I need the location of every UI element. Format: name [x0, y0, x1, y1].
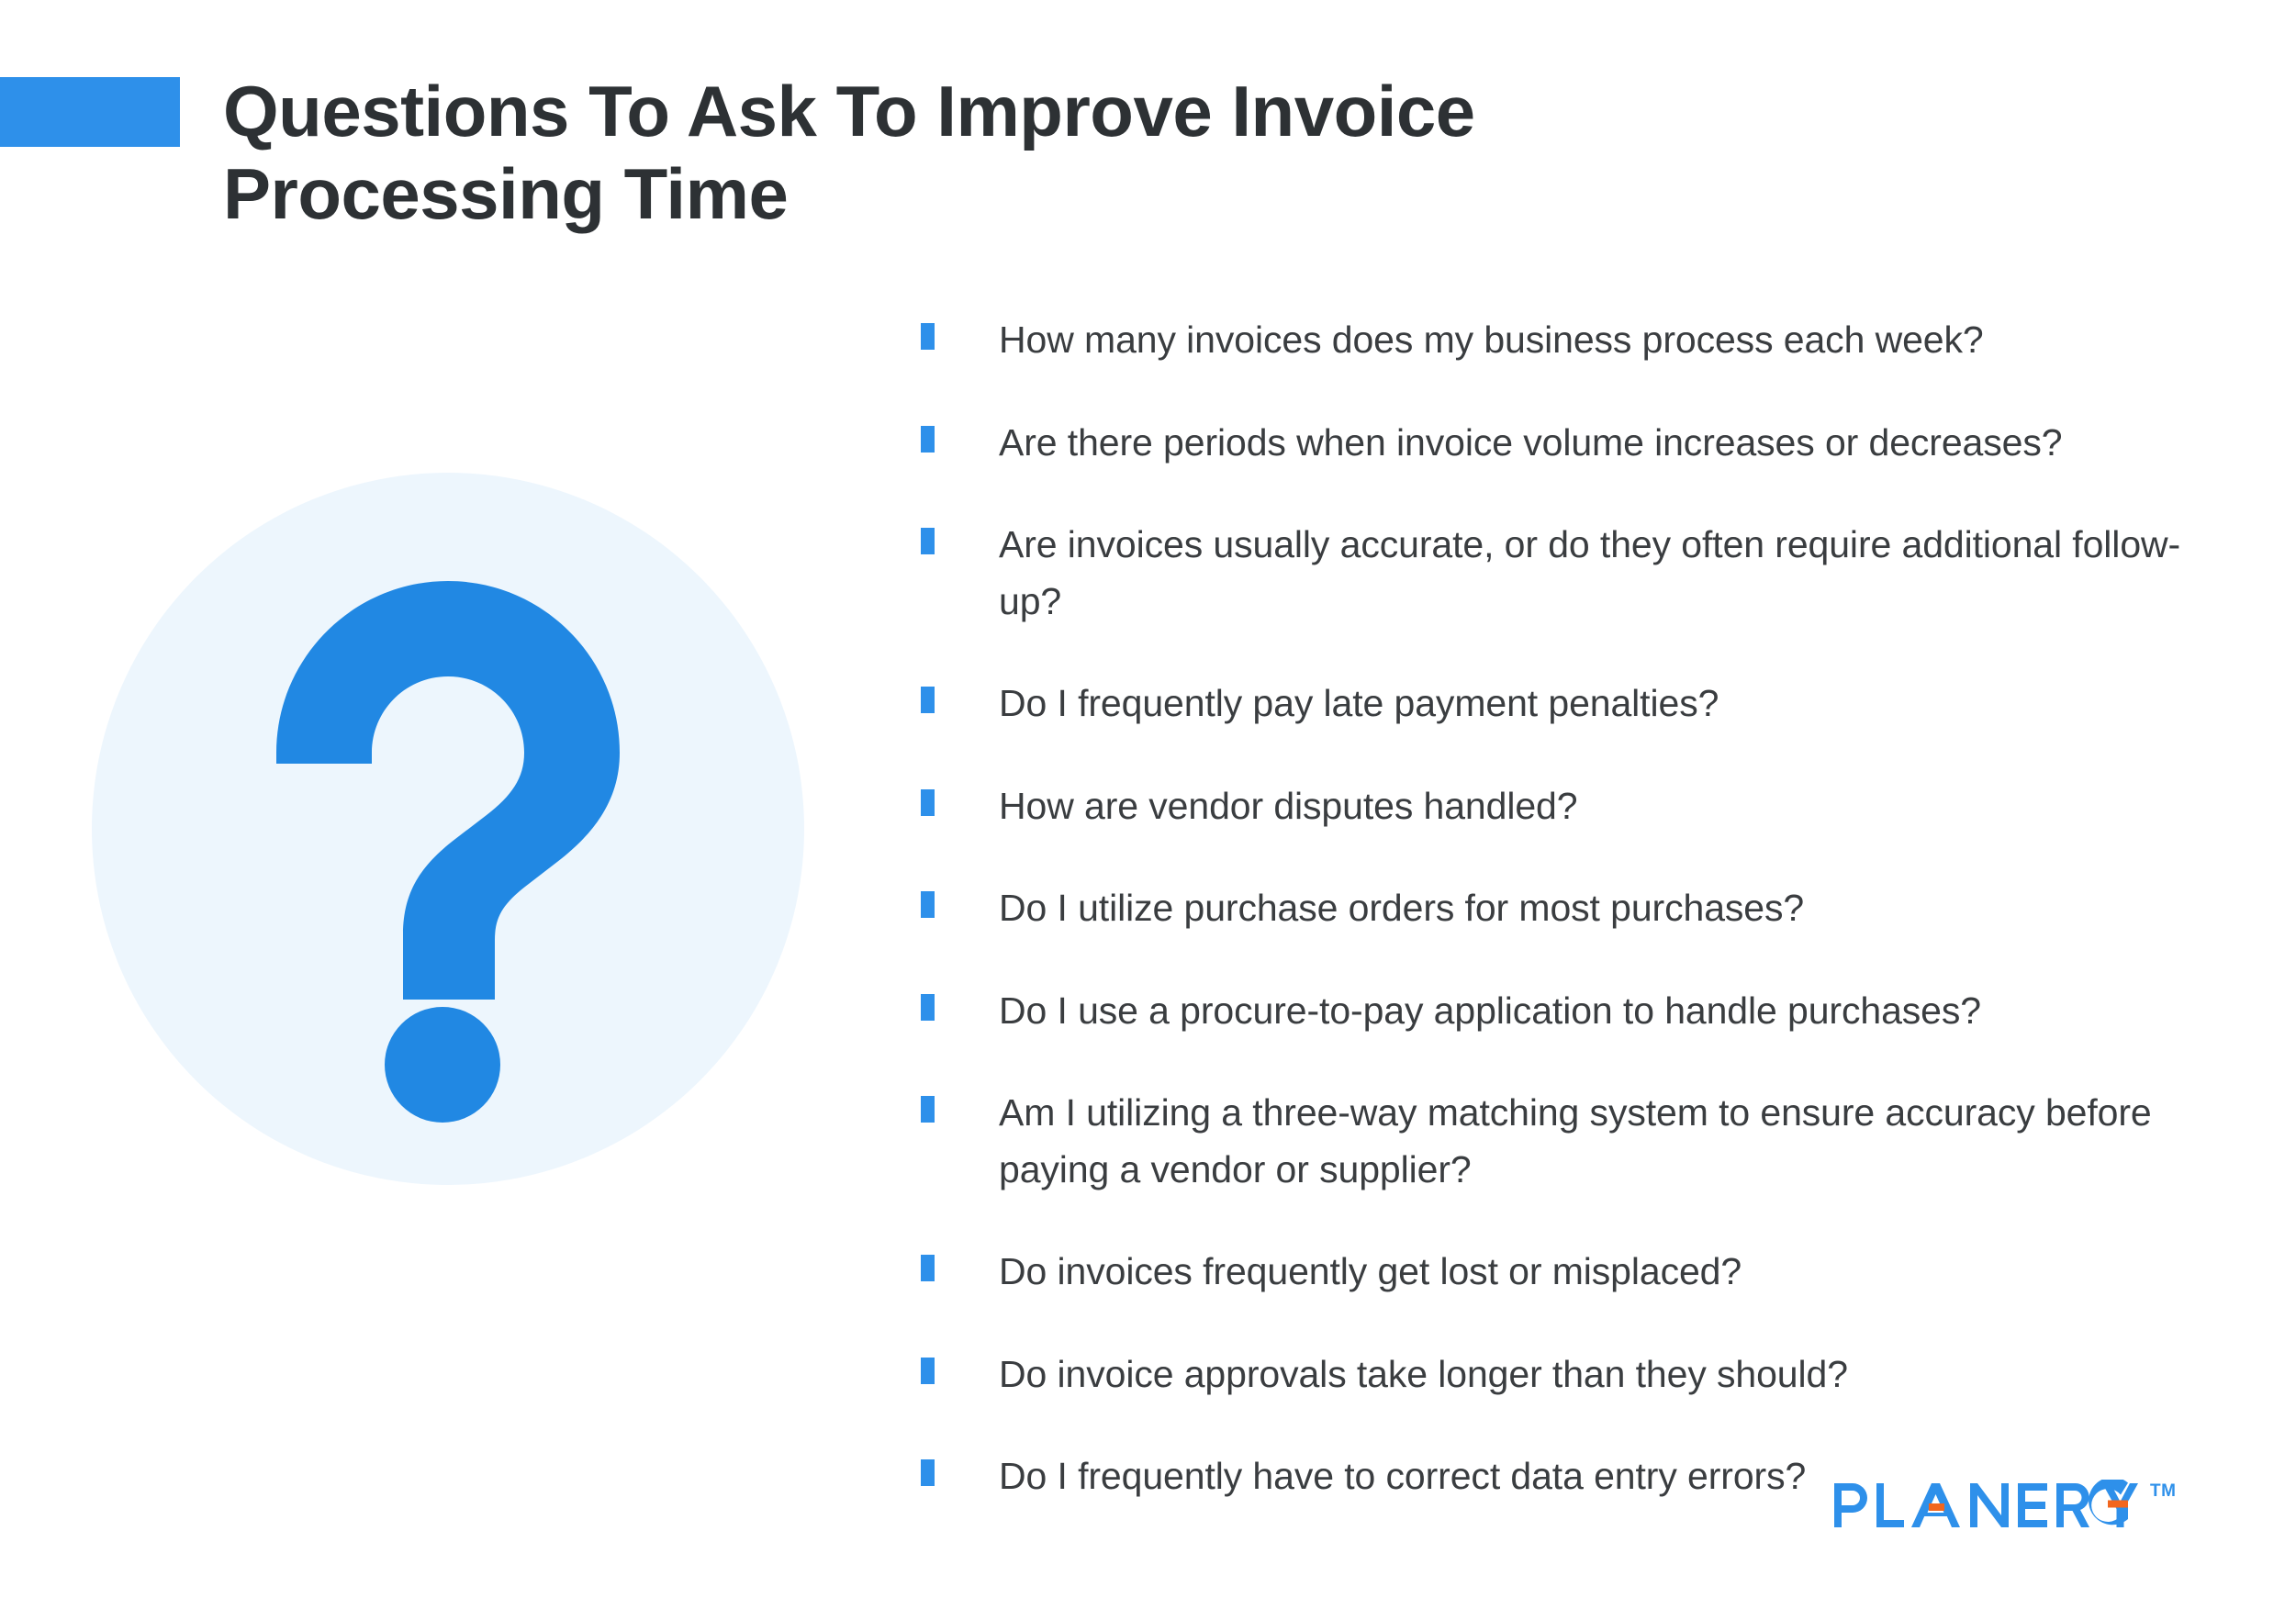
bullet-marker-icon: [921, 789, 935, 816]
question-mark-illustration: [92, 473, 804, 1185]
bullet-marker-icon: [921, 1358, 935, 1384]
question-text: Am I utilizing a three-way matching syst…: [999, 1085, 2206, 1198]
list-item: Do invoice approvals take longer than th…: [921, 1347, 2206, 1403]
list-item: Do invoices frequently get lost or mispl…: [921, 1244, 2206, 1301]
question-text: Do invoices frequently get lost or mispl…: [999, 1244, 1742, 1301]
question-text: Do invoice approvals take longer than th…: [999, 1347, 1848, 1403]
question-text: Are there periods when invoice volume in…: [999, 415, 2062, 472]
bullet-marker-icon: [921, 528, 935, 554]
bullet-marker-icon: [921, 687, 935, 713]
bullet-marker-icon: [921, 1459, 935, 1486]
question-text: Do I frequently have to correct data ent…: [999, 1448, 1806, 1505]
bullet-marker-icon: [921, 426, 935, 453]
infographic-canvas: Questions To Ask To Improve Invoice Proc…: [0, 0, 2296, 1598]
list-item: Do I frequently pay late payment penalti…: [921, 676, 2206, 732]
list-item: Do I utilize purchase orders for most pu…: [921, 880, 2206, 937]
questions-list: How many invoices does my business proce…: [921, 312, 2206, 1551]
planergy-wordmark-icon: [1832, 1480, 2145, 1531]
question-text: Do I utilize purchase orders for most pu…: [999, 880, 1804, 937]
question-mark-icon: [92, 473, 804, 1185]
list-item: Do I use a procure-to-pay application to…: [921, 983, 2206, 1040]
trademark-symbol: TM: [2150, 1481, 2176, 1502]
question-text: Do I use a procure-to-pay application to…: [999, 983, 1981, 1040]
bullet-marker-icon: [921, 994, 935, 1021]
page-title: Questions To Ask To Improve Invoice Proc…: [223, 70, 1802, 236]
title-accent-bar: [0, 77, 180, 147]
list-item: Am I utilizing a three-way matching syst…: [921, 1085, 2206, 1198]
bullet-marker-icon: [921, 1255, 935, 1281]
bullet-marker-icon: [921, 323, 935, 350]
planergy-logo: TM: [1832, 1480, 2176, 1531]
list-item: Are there periods when invoice volume in…: [921, 415, 2206, 472]
list-item: How are vendor disputes handled?: [921, 778, 2206, 835]
list-item: How many invoices does my business proce…: [921, 312, 2206, 369]
question-text: Do I frequently pay late payment penalti…: [999, 676, 1719, 732]
question-text: How are vendor disputes handled?: [999, 778, 1577, 835]
list-item: Are invoices usually accurate, or do the…: [921, 517, 2206, 630]
bullet-marker-icon: [921, 1096, 935, 1123]
question-text: Are invoices usually accurate, or do the…: [999, 517, 2206, 630]
question-text: How many invoices does my business proce…: [999, 312, 1984, 369]
bullet-marker-icon: [921, 891, 935, 918]
